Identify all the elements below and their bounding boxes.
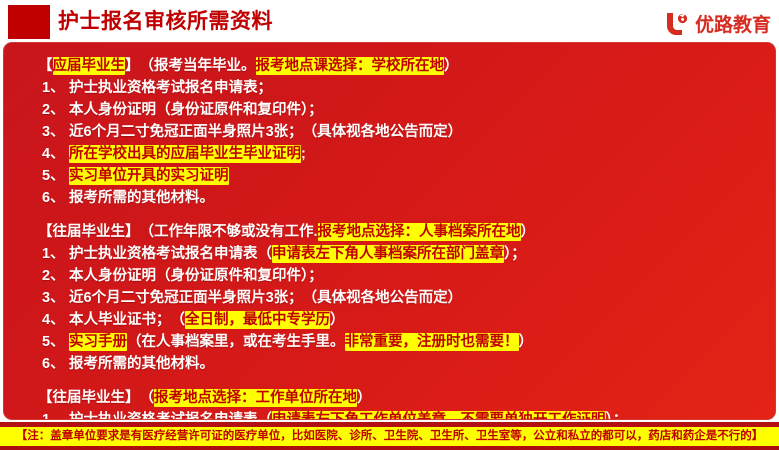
section-heading: 【应届毕业生】 （报考当年毕业。报考地点课选择：学校所在地） bbox=[4, 55, 775, 77]
list-item: 5、实习手册（在人事档案里，或在考生手里。非常重要，注册时也需要！） bbox=[4, 331, 775, 353]
item-suffix: ; bbox=[301, 146, 306, 162]
page-title: 护士报名审核所需资料 bbox=[58, 9, 273, 35]
heading-note-highlight: 报考地点选择：工作单位所在地 bbox=[154, 389, 357, 407]
item-text: 护士执业资格考试报名申请表； bbox=[69, 80, 272, 96]
item-suffix: ）； bbox=[606, 412, 628, 420]
item-suffix: ） bbox=[519, 334, 534, 350]
item-mid: （在人事档案里，或在考生手里。 bbox=[127, 334, 345, 350]
heading-note-highlight: 报考地点课选择：学校所在地 bbox=[256, 57, 445, 75]
section-former-graduate-personnel-file: 【往届毕业生】 （工作年限不够或没有工作.报考地点选择：人事档案所在地） 1、护… bbox=[4, 221, 775, 375]
heading-note-after: ） bbox=[357, 390, 372, 406]
list-item: 5、实习单位开具的实习证明 bbox=[4, 165, 775, 187]
header-accent-block bbox=[8, 5, 50, 39]
content-panel: 【应届毕业生】 （报考当年毕业。报考地点课选择：学校所在地） 1、护士执业资格考… bbox=[3, 42, 776, 420]
heading-bracket-close: 】 bbox=[125, 58, 132, 74]
item-highlight: 全日制，最低中专学历 bbox=[185, 311, 330, 329]
page-header: 护士报名审核所需资料 优路教育 bbox=[0, 0, 779, 44]
item-number: 3、 bbox=[42, 121, 69, 143]
list-item: 6、报考所需的其他材料。 bbox=[4, 187, 775, 209]
list-item: 1、护士执业资格考试报名申请表（申请表左下角人事档案所在部门盖章）； bbox=[4, 243, 775, 265]
list-item: 1、护士执业资格考试报名申请表； bbox=[4, 77, 775, 99]
section-fresh-graduate: 【应届毕业生】 （报考当年毕业。报考地点课选择：学校所在地） 1、护士执业资格考… bbox=[4, 55, 775, 209]
list-item: 4、本人毕业证书； （全日制，最低中专学历） bbox=[4, 309, 775, 331]
item-number: 5、 bbox=[42, 331, 69, 353]
item-number: 6、 bbox=[42, 353, 69, 375]
heading-bracket-open: 【 bbox=[38, 224, 53, 240]
heading-note-before: （工作年限不够或没有工作. bbox=[147, 224, 318, 240]
brand-logo-icon bbox=[664, 11, 690, 35]
item-number: 6、 bbox=[42, 187, 69, 209]
item-highlight: 实习手册 bbox=[69, 333, 127, 351]
list-item: 2、本人身份证明（身份证原件和复印件）； bbox=[4, 99, 775, 121]
item-prefix: 护士执业资格考试报名申请表（ bbox=[69, 246, 272, 262]
item-number: 5、 bbox=[42, 165, 69, 187]
heading-title: 往届毕业生 bbox=[53, 224, 126, 240]
heading-note-after: ） bbox=[444, 58, 459, 74]
footer-note-bar: 【注：盖章单位要求是有医疗经营许可证的医疗单位，比如医院、诊所、卫生院、卫生所、… bbox=[0, 422, 779, 450]
heading-note-after: ） bbox=[521, 224, 536, 240]
item-highlight: 实习单位开具的实习证明 bbox=[69, 167, 229, 185]
heading-note-before: （ bbox=[147, 390, 154, 406]
item-prefix: 护士执业资格考试报名申请表（ bbox=[69, 412, 272, 420]
heading-title: 往届毕业生 bbox=[53, 390, 126, 406]
heading-bracket-open: 【 bbox=[38, 390, 53, 406]
item-prefix: 报考所需的其他材料。 bbox=[69, 356, 214, 372]
list-item: 2、本人身份证明（身份证原件和复印件）； bbox=[4, 265, 775, 287]
heading-title: 应届毕业生 bbox=[53, 57, 126, 75]
item-text: 近6个月二寸免冠正面半身照片3张； （具体视各地公告而定） bbox=[69, 124, 462, 140]
item-highlight: 申请表左下角人事档案所在部门盖章 bbox=[272, 245, 504, 263]
item-prefix: 本人毕业证书； （ bbox=[69, 312, 185, 328]
list-item: 1、护士执业资格考试报名申请表（申请表左下角工作单位盖章，不需要单独开工作证明）… bbox=[4, 409, 775, 420]
item-highlight: 申请表左下角工作单位盖章，不需要单独开工作证明 bbox=[272, 411, 606, 420]
item-number: 1、 bbox=[42, 243, 69, 265]
brand-name: 优路教育 bbox=[695, 10, 771, 37]
section-heading: 【往届毕业生】 （工作年限不够或没有工作.报考地点选择：人事档案所在地） bbox=[4, 221, 775, 243]
item-suffix: ） bbox=[330, 312, 345, 328]
heading-note-highlight: 报考地点选择：人事档案所在地 bbox=[318, 223, 521, 241]
list-item: 3、近6个月二寸免冠正面半身照片3张； （具体视各地公告而定） bbox=[4, 287, 775, 309]
item-number: 2、 bbox=[42, 99, 69, 121]
heading-bracket-open: 【 bbox=[38, 58, 53, 74]
item-text: 报考所需的其他材料。 bbox=[69, 190, 214, 206]
item-suffix: ）； bbox=[504, 246, 526, 262]
item-highlight-2: 非常重要，注册时也需要！ bbox=[345, 333, 519, 351]
item-number: 3、 bbox=[42, 287, 69, 309]
footer-note-text: 【注：盖章单位要求是有医疗经营许可证的医疗单位，比如医院、诊所、卫生院、卫生所、… bbox=[16, 427, 764, 446]
item-number: 2、 bbox=[42, 265, 69, 287]
section-former-graduate-workplace: 【往届毕业生】 （报考地点选择：工作单位所在地） 1、护士执业资格考试报名申请表… bbox=[4, 387, 775, 420]
item-number: 4、 bbox=[42, 143, 69, 165]
item-text: 本人身份证明（身份证原件和复印件）； bbox=[69, 102, 323, 118]
item-number: 1、 bbox=[42, 77, 69, 99]
section-heading: 【往届毕业生】 （报考地点选择：工作单位所在地） bbox=[4, 387, 775, 409]
brand-logo: 优路教育 bbox=[664, 10, 771, 36]
item-highlight: 所在学校出具的应届毕业生毕业证明 bbox=[69, 145, 301, 163]
slide-root: 护士报名审核所需资料 优路教育 【应届毕业生】 （报考当年毕业。报考地点课选择：… bbox=[0, 0, 779, 450]
list-item: 3、近6个月二寸免冠正面半身照片3张； （具体视各地公告而定） bbox=[4, 121, 775, 143]
item-prefix: 近6个月二寸免冠正面半身照片3张； （具体视各地公告而定） bbox=[69, 290, 462, 306]
list-item: 6、报考所需的其他材料。 bbox=[4, 353, 775, 375]
heading-note-before: （报考当年毕业。 bbox=[147, 58, 256, 74]
footer-note-highlight: 【注：盖章单位要求是有医疗经营许可证的医疗单位，比如医院、诊所、卫生院、卫生所、… bbox=[0, 427, 779, 446]
item-number: 1、 bbox=[42, 409, 69, 420]
item-number: 4、 bbox=[42, 309, 69, 331]
heading-bracket-close: 】 bbox=[125, 390, 132, 406]
list-item: 4、所在学校出具的应届毕业生毕业证明; bbox=[4, 143, 775, 165]
item-prefix: 本人身份证明（身份证原件和复印件）； bbox=[69, 268, 323, 284]
heading-bracket-close: 】 bbox=[125, 224, 132, 240]
